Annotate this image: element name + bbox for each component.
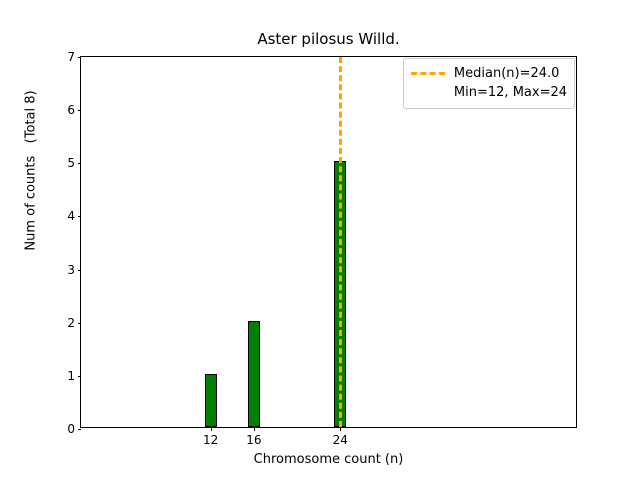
- dashed-line-icon: [411, 72, 445, 75]
- chart-legend: Median(n)=24.0 Min=12, Max=24: [403, 58, 575, 109]
- y-tick-label-0: 0: [67, 423, 75, 435]
- y-tick-mark-4: [78, 216, 82, 217]
- plot-axes: Median(n)=24.0 Min=12, Max=24 0123456712…: [80, 56, 577, 428]
- x-tick-label-24: 24: [333, 434, 348, 447]
- x-axis-label: Chromosome count (n): [80, 452, 577, 467]
- y-tick-mark-2: [78, 323, 82, 324]
- x-tick-mark-24: [340, 427, 341, 431]
- legend-item-minmax: Min=12, Max=24: [411, 83, 567, 102]
- x-tick-mark-16: [254, 427, 255, 431]
- legend-item-median: Median(n)=24.0: [411, 64, 567, 83]
- bar-12: [205, 374, 217, 427]
- y-tick-mark-5: [78, 163, 82, 164]
- legend-label-median: Median(n)=24.0: [454, 66, 560, 81]
- y-tick-label-4: 4: [67, 210, 75, 222]
- x-tick-label-12: 12: [203, 434, 218, 447]
- x-tick-mark-12: [211, 427, 212, 431]
- y-tick-label-5: 5: [67, 157, 75, 169]
- y-tick-label-3: 3: [67, 264, 75, 276]
- y-tick-mark-0: [78, 429, 82, 430]
- chart-figure: Aster pilosus Willd. Median(n)=24.0 Min=…: [0, 0, 640, 480]
- y-tick-mark-6: [78, 110, 82, 111]
- y-tick-label-6: 6: [67, 104, 75, 116]
- y-tick-label-2: 2: [67, 317, 75, 329]
- chart-title: Aster pilosus Willd.: [80, 30, 577, 48]
- x-tick-label-16: 16: [246, 434, 261, 447]
- y-tick-label-7: 7: [67, 51, 75, 63]
- y-axis-label: Num of counts (Total 8): [24, 0, 39, 357]
- legend-label-minmax: Min=12, Max=24: [454, 85, 567, 100]
- y-tick-label-1: 1: [67, 370, 75, 382]
- plot-area: [81, 57, 576, 427]
- y-tick-mark-7: [78, 57, 82, 58]
- y-tick-mark-3: [78, 270, 82, 271]
- y-tick-mark-1: [78, 376, 82, 377]
- bar-16: [248, 321, 260, 427]
- median-line: [339, 57, 342, 427]
